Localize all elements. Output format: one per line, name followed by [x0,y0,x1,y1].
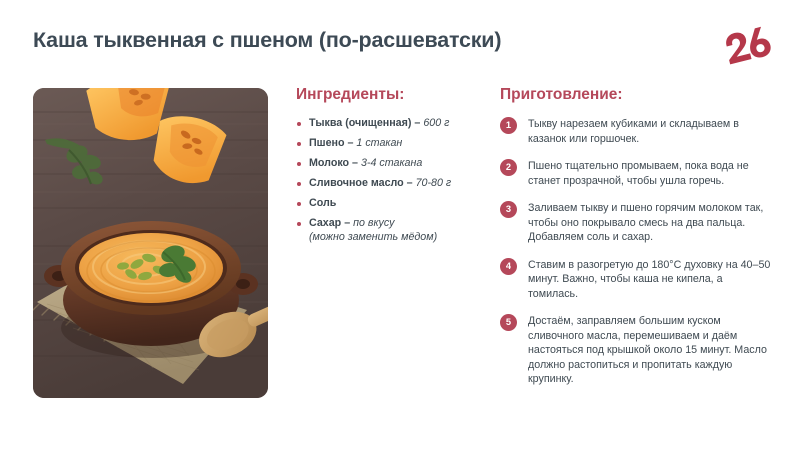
ingredients-list: Тыква (очищенная) – 600 г Пшено – 1 стак… [296,117,486,244]
ingredient-name: Сливочное масло [309,177,404,189]
recipe-photo [33,88,268,398]
ingredient-name: Тыква (очищенная) [309,117,411,129]
ingredient-name: Молоко [309,157,349,169]
ingredient-quantity: 70-80 г [416,177,452,189]
step-text: Пшено тщательно промываем, пока вода не … [528,160,749,187]
ingredient-quantity: 3-4 стакана [361,157,422,169]
list-item: 3 Заливаем тыкву и пшено горячим молоком… [500,201,775,245]
bullet-icon [297,122,301,126]
ingredient-separator: – [345,137,357,149]
ingredient-quantity: по вкусу [353,217,394,229]
bullet-icon [297,202,301,206]
list-item: Тыква (очищенная) – 600 г [296,117,486,131]
step-text: Заливаем тыкву и пшено горячим молоком т… [528,202,763,243]
bullet-icon [297,222,301,226]
ingredient-separator: – [411,117,423,129]
ingredient-name: Сахар [309,217,341,229]
preparation-section: Приготовление: 1 Тыкву нарезаем кубиками… [500,86,775,400]
step-number-badge: 4 [500,258,517,275]
preparation-heading: Приготовление: [500,86,775,103]
ingredient-name: Соль [309,197,336,209]
step-number-badge: 2 [500,159,517,176]
step-text: Тыкву нарезаем кубиками и складываем в к… [528,118,739,145]
step-text: Достаём, заправляем большим куском сливо… [528,315,767,385]
list-item: Сливочное масло – 70-80 г [296,177,486,191]
list-item: Молоко – 3-4 стакана [296,157,486,171]
list-item: Пшено – 1 стакан [296,137,486,151]
ingredient-note: (можно заменить мёдом) [309,231,486,245]
ingredient-quantity: 600 г [423,117,449,129]
list-item: 1 Тыкву нарезаем кубиками и складываем в… [500,117,775,146]
ingredient-name: Пшено [309,137,345,149]
ingredients-section: Ингредиенты: Тыква (очищенная) – 600 г П… [296,86,486,251]
ingredient-separator: – [404,177,416,189]
preparation-steps-list: 1 Тыкву нарезаем кубиками и складываем в… [500,117,775,387]
ingredient-separator: – [341,217,353,229]
step-number-badge: 5 [500,314,517,331]
ingredient-quantity: 1 стакан [356,137,402,149]
bullet-icon [297,162,301,166]
list-item: 4 Ставим в разогретую до 180°C духовку н… [500,258,775,302]
list-item: Соль [296,197,486,211]
bullet-icon [297,142,301,146]
ingredient-separator: – [349,157,361,169]
step-text: Ставим в разогретую до 180°C духовку на … [528,259,770,300]
step-number-badge: 3 [500,201,517,218]
bullet-icon [297,182,301,186]
list-item: Сахар – по вкусу (можно заменить мёдом) [296,217,486,244]
list-item: 2 Пшено тщательно промываем, пока вода н… [500,159,775,188]
ingredients-heading: Ингредиенты: [296,86,486,103]
logo-26-icon [722,26,774,72]
step-number-badge: 1 [500,117,517,134]
page-title: Каша тыквенная с пшеном (по-расшеватски) [33,28,501,53]
list-item: 5 Достаём, заправляем большим куском сли… [500,314,775,387]
